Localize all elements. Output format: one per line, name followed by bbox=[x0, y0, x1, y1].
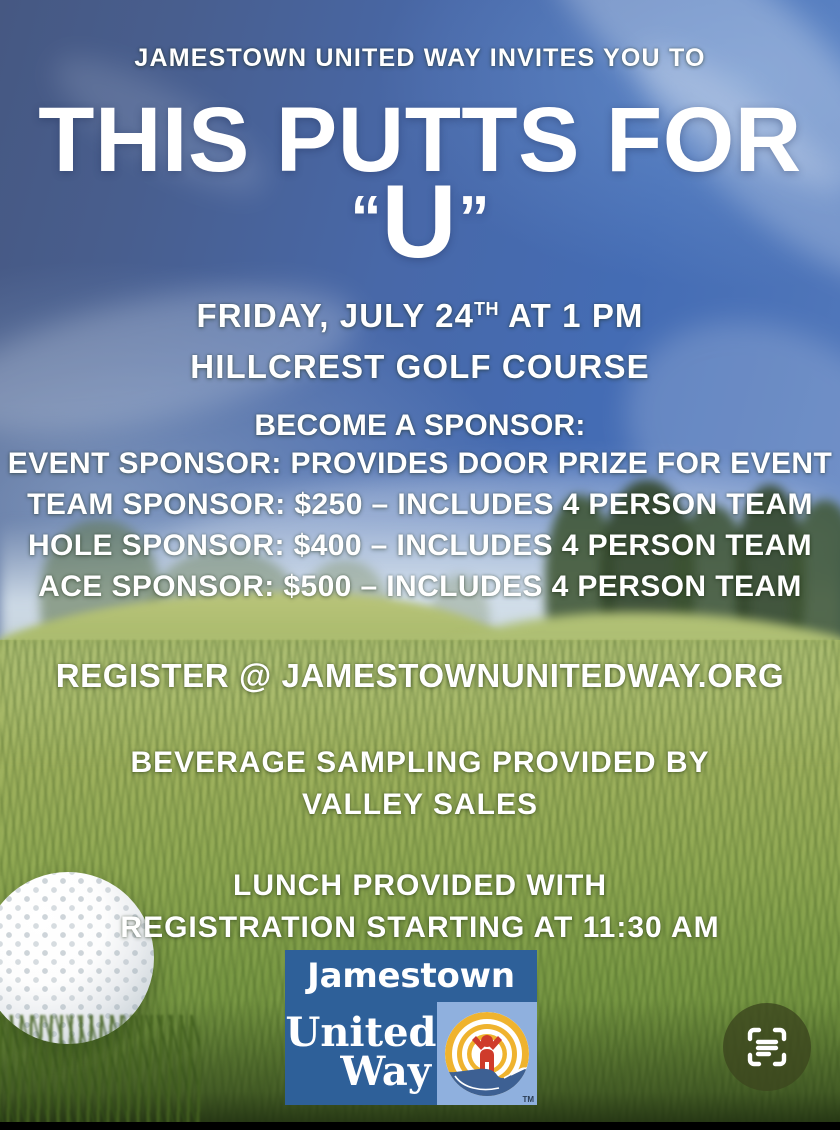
invite-kicker: JAMESTOWN UNITED WAY INVITES YOU TO bbox=[0, 44, 840, 73]
bottom-black-bar bbox=[0, 1122, 840, 1130]
sponsor-tier-hole: HOLE SPONSOR: $400 – INCLUDES 4 PERSON T… bbox=[0, 529, 840, 563]
grass-blades-foreground bbox=[0, 1015, 200, 1122]
registration-url: REGISTER @ JAMESTOWNUNITEDWAY.ORG bbox=[0, 657, 840, 695]
united-way-helping-hand-icon: TM bbox=[437, 1002, 537, 1105]
beverage-sponsor-line-1: BEVERAGE SAMPLING PROVIDED BY bbox=[0, 746, 840, 780]
beverage-sponsor-line-2: VALLEY SALES bbox=[0, 788, 840, 822]
sponsor-tier-team: TEAM SPONSOR: $250 – INCLUDES 4 PERSON T… bbox=[0, 488, 840, 522]
logo-city-text: Jamestown bbox=[307, 959, 515, 993]
jamestown-united-way-logo: Jamestown United Way bbox=[285, 950, 537, 1105]
sponsor-tier-ace: ACE SPONSOR: $500 – INCLUDES 4 PERSON TE… bbox=[0, 570, 840, 604]
quote-close: ” bbox=[459, 184, 490, 253]
background-photograph: JAMESTOWN UNITED WAY INVITES YOU TO THIS… bbox=[0, 0, 840, 1122]
flyer-poster: JAMESTOWN UNITED WAY INVITES YOU TO THIS… bbox=[0, 0, 840, 1130]
scan-text-icon bbox=[744, 1024, 790, 1070]
scan-text-button[interactable] bbox=[723, 1003, 811, 1091]
lunch-info-line-2: REGISTRATION STARTING AT 11:30 AM bbox=[0, 911, 840, 945]
logo-city-band: Jamestown bbox=[285, 950, 537, 1002]
logo-wordmark: United Way bbox=[285, 1002, 437, 1105]
sponsor-tier-event: EVENT SPONSOR: PROVIDES DOOR PRIZE FOR E… bbox=[0, 447, 840, 481]
event-date-prefix: FRIDAY, JULY 24 bbox=[196, 297, 474, 334]
logo-word-way: Way bbox=[340, 1054, 437, 1091]
poster-title-line-2: “U” bbox=[0, 170, 840, 274]
event-datetime: FRIDAY, JULY 24TH AT 1 PM bbox=[0, 297, 840, 335]
date-ordinal-suffix: TH bbox=[474, 299, 499, 319]
event-venue: HILLCREST GOLF COURSE bbox=[0, 348, 840, 386]
sponsor-heading: BECOME A SPONSOR: bbox=[0, 409, 840, 443]
trademark-symbol: TM bbox=[522, 1095, 534, 1104]
quote-open: “ bbox=[350, 184, 381, 253]
cupped-hand-icon bbox=[445, 1058, 529, 1096]
event-time-suffix: AT 1 PM bbox=[499, 297, 643, 334]
title-letter-u: U bbox=[381, 164, 458, 280]
logo-word-united: United bbox=[285, 1015, 436, 1052]
lunch-info-line-1: LUNCH PROVIDED WITH bbox=[0, 869, 840, 903]
logo-main-band: United Way bbox=[285, 1002, 537, 1105]
